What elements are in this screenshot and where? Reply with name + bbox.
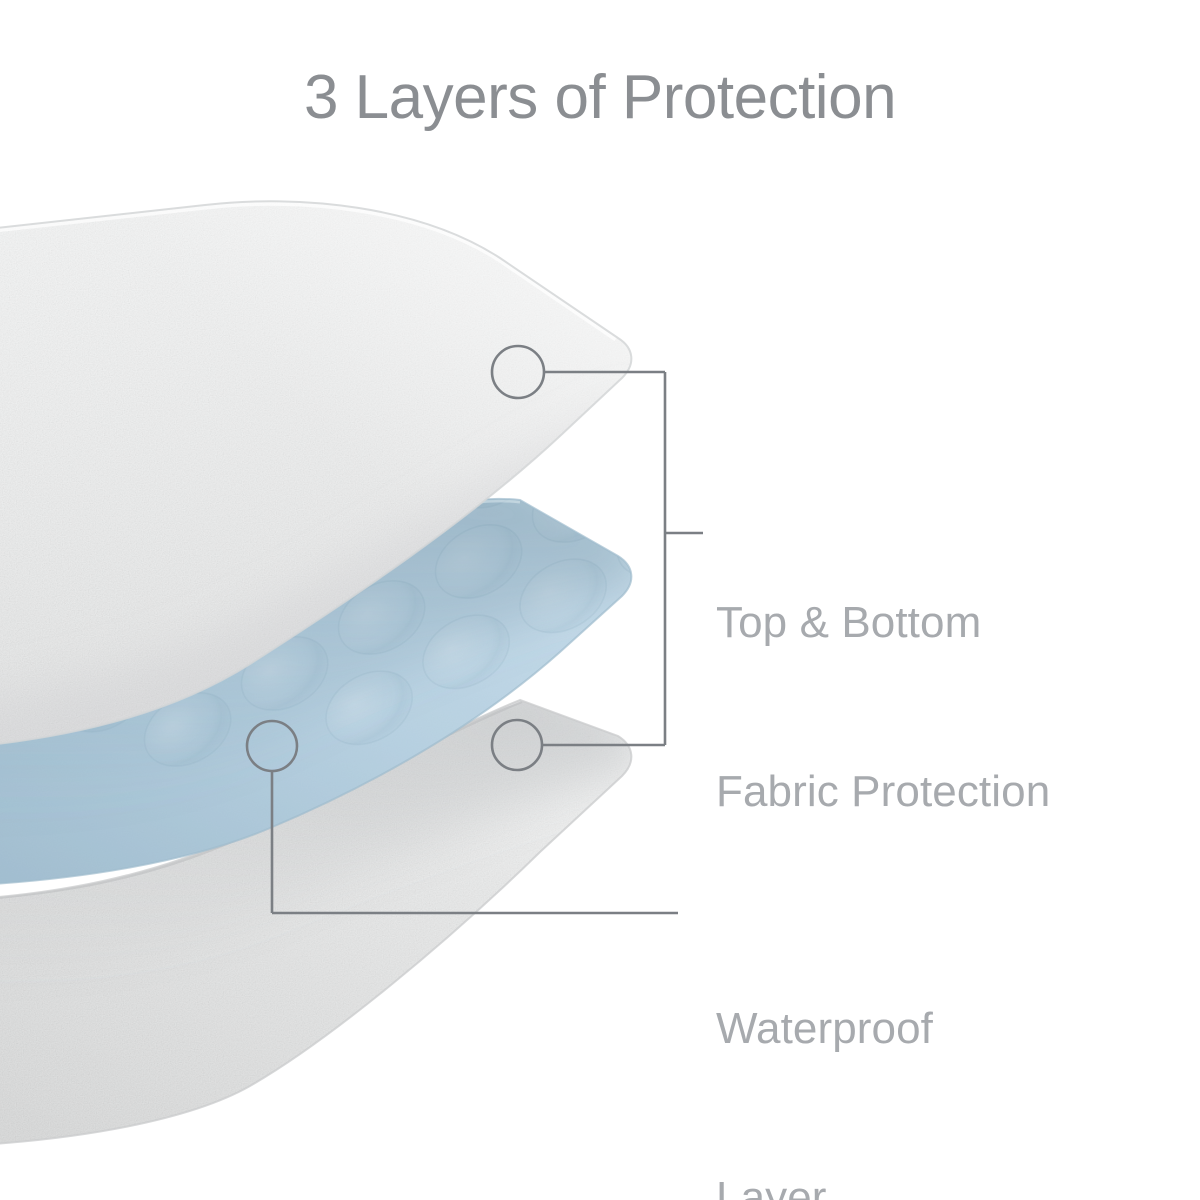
label-fabric-line-1: Top & Bottom: [716, 595, 1050, 651]
label-fabric-line-2: Fabric Protection: [716, 764, 1050, 820]
label-waterproof-line-2: Layer: [716, 1170, 933, 1200]
label-fabric-protection: Top & Bottom Fabric Protection: [716, 482, 1050, 933]
infographic-canvas: 3 Layers of Protection: [0, 0, 1200, 1200]
label-waterproof-line-1: Waterproof: [716, 1001, 933, 1057]
label-waterproof-layer: Waterproof Layer: [716, 888, 933, 1200]
